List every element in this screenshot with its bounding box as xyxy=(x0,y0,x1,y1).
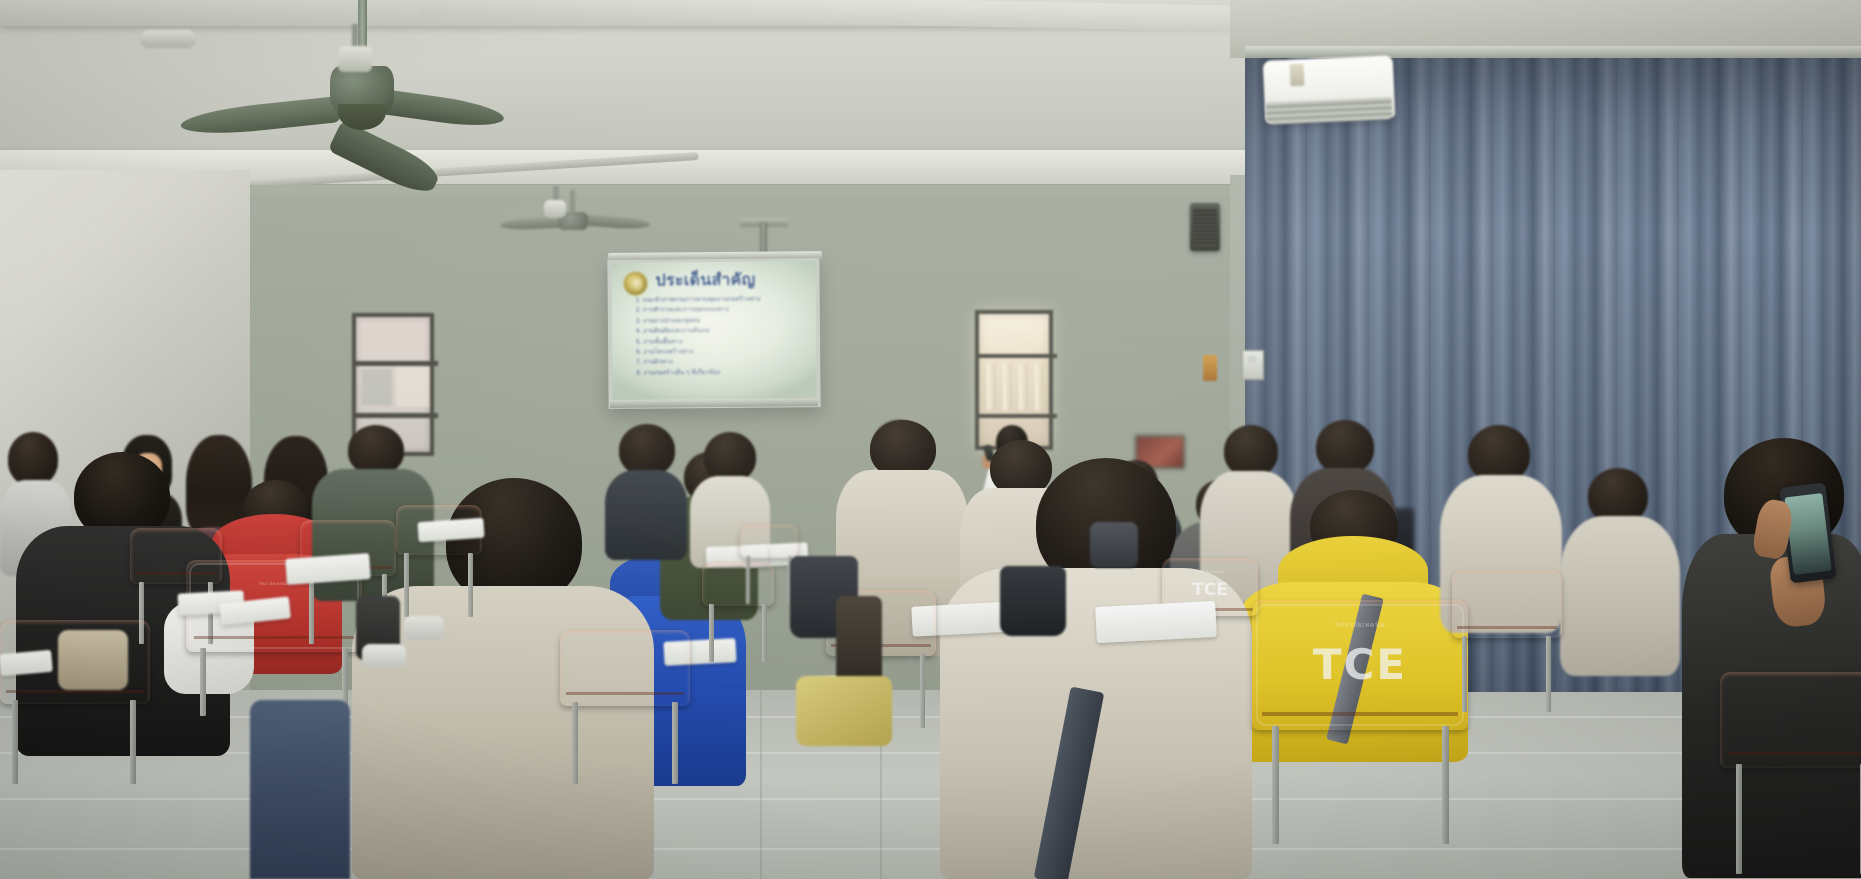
backpack[interactable] xyxy=(1000,566,1066,636)
student-shoe xyxy=(404,616,444,640)
fan-blade-left xyxy=(180,96,342,139)
chair-stencil-sub: วิทยาลัยเทคนิค xyxy=(1252,620,1468,631)
chair-stencil-label: TCE xyxy=(1252,640,1468,689)
yellow-bag[interactable] xyxy=(796,676,892,746)
open-notebook[interactable] xyxy=(1095,601,1217,643)
chair[interactable] xyxy=(1452,570,1562,710)
student-body xyxy=(1560,516,1680,676)
student-head xyxy=(619,424,675,476)
student-jeans xyxy=(250,700,350,879)
tote-bag[interactable] xyxy=(58,630,128,690)
student-head xyxy=(704,432,756,482)
student-head xyxy=(1316,420,1374,474)
university-seal-emblem xyxy=(623,272,647,296)
chair[interactable]: วิทยาลัยเทคนิค TCE xyxy=(1252,600,1468,840)
curtain-rail xyxy=(1245,46,1861,58)
ceiling-fan xyxy=(180,0,500,175)
light-switch-plate[interactable] xyxy=(1242,350,1264,380)
student-shoe xyxy=(362,644,406,668)
slide-title: ประเด็นสำคัญ xyxy=(655,268,755,294)
fan-rear-blade-left xyxy=(500,216,566,230)
slide-bullet: 8. งานก่อสร้างอื่น ๆ ที่เกี่ยวข้อง xyxy=(636,367,814,379)
projection-screen: ประเด็นสำคัญ 1. แนะนำภาพรวมการควบคุมงานก… xyxy=(611,261,816,403)
wall-device xyxy=(1203,355,1217,381)
bag[interactable] xyxy=(1090,522,1138,568)
ceiling-fan-rear xyxy=(500,190,650,250)
ceiling-lamp-rear xyxy=(544,200,566,218)
chair-stencil-label: TCE xyxy=(1162,580,1258,600)
slide-bullet-list: 1. แนะนำภาพรวมการควบคุมงานก่อสร้างทาง 2.… xyxy=(636,294,815,379)
student-head xyxy=(348,425,404,475)
chair[interactable] xyxy=(1720,672,1861,879)
student-right-4 xyxy=(1560,468,1678,668)
chair[interactable] xyxy=(560,630,690,790)
ceiling-light-fixture xyxy=(140,30,196,48)
slide-content: ประเด็นสำคัญ 1. แนะนำภาพรวมการควบคุมงานก… xyxy=(611,261,816,403)
classroom-photo: ประเด็นสำคัญ 1. แนะนำภาพรวมการควบคุมงานก… xyxy=(0,0,1861,879)
speaker-grille xyxy=(1193,208,1217,246)
switch-indicator xyxy=(1248,356,1256,362)
fan-rear-blade-right xyxy=(586,215,651,230)
ceiling-lamp xyxy=(338,46,372,72)
air-conditioner-panel xyxy=(1290,64,1305,87)
chair-writing-tablet[interactable] xyxy=(0,650,53,676)
chair-stencil-sub: วิทยาลัยเทคนิค xyxy=(1162,568,1258,575)
